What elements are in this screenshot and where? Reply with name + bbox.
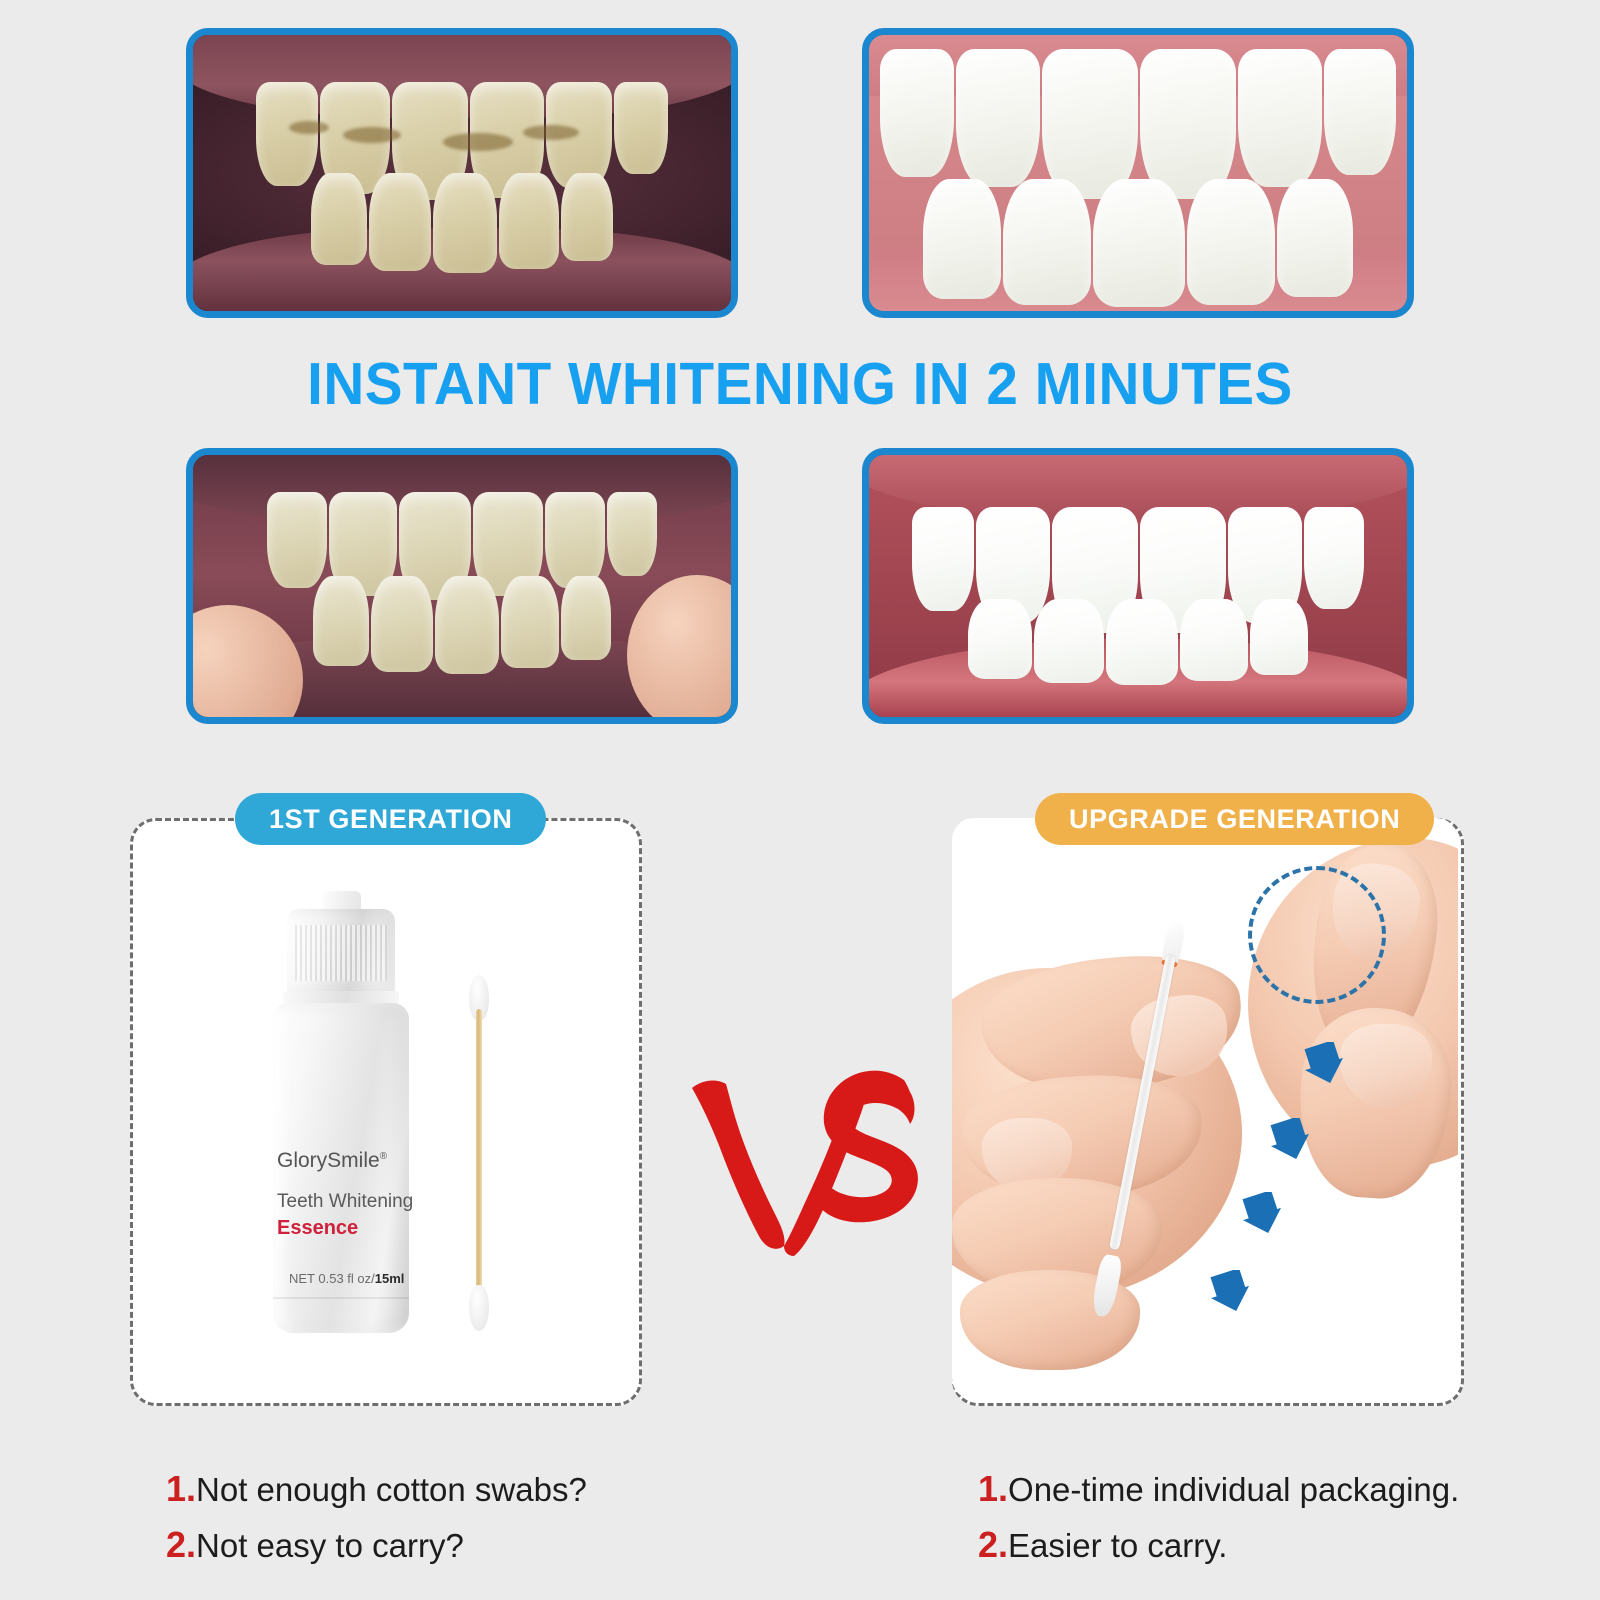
brand-name: GlorySmile	[277, 1149, 380, 1172]
photo-content	[193, 455, 731, 717]
tooth	[956, 49, 1040, 187]
tooth	[880, 49, 954, 177]
photo-before-dull-teeth	[186, 448, 738, 724]
tooth-stain	[443, 133, 513, 151]
tooth	[433, 173, 497, 273]
registered-mark-icon: ®	[380, 1151, 387, 1162]
tooth	[1003, 179, 1091, 305]
tooth	[1180, 599, 1248, 681]
bullet-number: 1.	[166, 1468, 196, 1509]
lower-teeth	[869, 599, 1407, 685]
bullet-text: Easier to carry.	[1008, 1527, 1227, 1564]
tooth	[1304, 507, 1364, 609]
tooth	[371, 576, 433, 672]
bottle-product-line: Teeth Whitening	[277, 1191, 413, 1213]
bullets-1st-generation: 1.Not enough cotton swabs? 2.Not easy to…	[166, 1468, 587, 1580]
tooth	[1034, 599, 1104, 683]
bullets-upgrade-generation: 1.One-time individual packaging. 2.Easie…	[978, 1468, 1459, 1580]
arrow-down-icon	[1304, 1042, 1344, 1086]
arrow-down-icon	[1210, 1270, 1250, 1314]
tooth	[912, 507, 974, 611]
tooth	[923, 179, 1001, 299]
photo-content	[869, 455, 1407, 717]
tooth	[614, 82, 668, 174]
arrow-down-icon	[1270, 1118, 1310, 1162]
bullet-number: 2.	[978, 1524, 1008, 1565]
tooth	[561, 173, 613, 261]
arrow-down-icon	[1242, 1192, 1282, 1236]
applicator-demo-scene	[952, 818, 1458, 1400]
list-item: 2.Not easy to carry?	[166, 1524, 587, 1566]
tooth	[1106, 599, 1178, 685]
net-prefix: NET 0.53 fl oz/	[289, 1271, 375, 1286]
tooth	[499, 173, 559, 269]
photo-after-white-teeth	[862, 28, 1414, 318]
tooth	[561, 576, 611, 660]
tooth	[1238, 49, 1322, 187]
tooth	[1093, 179, 1185, 307]
tooth	[1042, 49, 1138, 199]
bottle-brand-label: GlorySmile®	[277, 1149, 387, 1173]
badge-upgrade-generation: UPGRADE GENERATION	[1035, 793, 1434, 845]
swab-tip-bottom	[469, 1285, 489, 1331]
tooth	[968, 599, 1032, 679]
bullet-number: 2.	[166, 1524, 196, 1565]
list-item: 1.One-time individual packaging.	[978, 1468, 1459, 1510]
photo-before-stained-teeth	[186, 28, 738, 318]
tooth-stain	[523, 125, 579, 140]
versus-graphic	[672, 1040, 928, 1260]
lower-teeth	[193, 173, 731, 273]
tooth	[607, 492, 657, 576]
panel-upgrade-generation	[952, 818, 1464, 1406]
lower-teeth	[869, 179, 1407, 307]
tooth	[501, 576, 559, 668]
bottle-net-volume: NET 0.53 fl oz/15ml	[289, 1271, 404, 1286]
net-volume: 15ml	[375, 1271, 405, 1286]
upper-teeth	[869, 49, 1407, 199]
bullet-number: 1.	[978, 1468, 1008, 1509]
photo-content	[193, 35, 731, 311]
tooth	[369, 173, 431, 271]
tooth	[1187, 179, 1275, 305]
bottle-product-essence: Essence	[277, 1217, 358, 1240]
list-item: 1.Not enough cotton swabs?	[166, 1468, 587, 1510]
tooth	[545, 492, 605, 588]
swab-stick	[476, 1009, 482, 1301]
cotton-swab	[468, 975, 490, 1331]
panel-1st-generation: GlorySmile® Teeth Whitening Essence NET …	[130, 818, 642, 1406]
bullet-text: Not enough cotton swabs?	[196, 1471, 587, 1508]
tooth	[1250, 599, 1308, 675]
tooth	[1324, 49, 1396, 175]
tooth	[313, 576, 369, 666]
badge-1st-generation: 1ST GENERATION	[235, 793, 546, 845]
photo-content	[869, 35, 1407, 311]
product-bottle: GlorySmile® Teeth Whitening Essence NET …	[261, 891, 421, 1343]
photo-after-bright-smile	[862, 448, 1414, 724]
bullet-text: One-time individual packaging.	[1008, 1471, 1459, 1508]
bullet-text: Not easy to carry?	[196, 1527, 464, 1564]
tooth	[311, 173, 367, 265]
tooth-stain	[289, 121, 329, 134]
list-item: 2.Easier to carry.	[978, 1524, 1459, 1566]
tooth	[435, 576, 499, 674]
tooth	[1140, 49, 1236, 199]
highlight-circle-icon	[1248, 866, 1386, 1004]
bottle-cap	[287, 909, 395, 995]
page-title: INSTANT WHITENING IN 2 MINUTES	[32, 350, 1568, 418]
tooth	[267, 492, 327, 588]
tooth-stain	[343, 127, 401, 143]
tooth	[1277, 179, 1353, 297]
